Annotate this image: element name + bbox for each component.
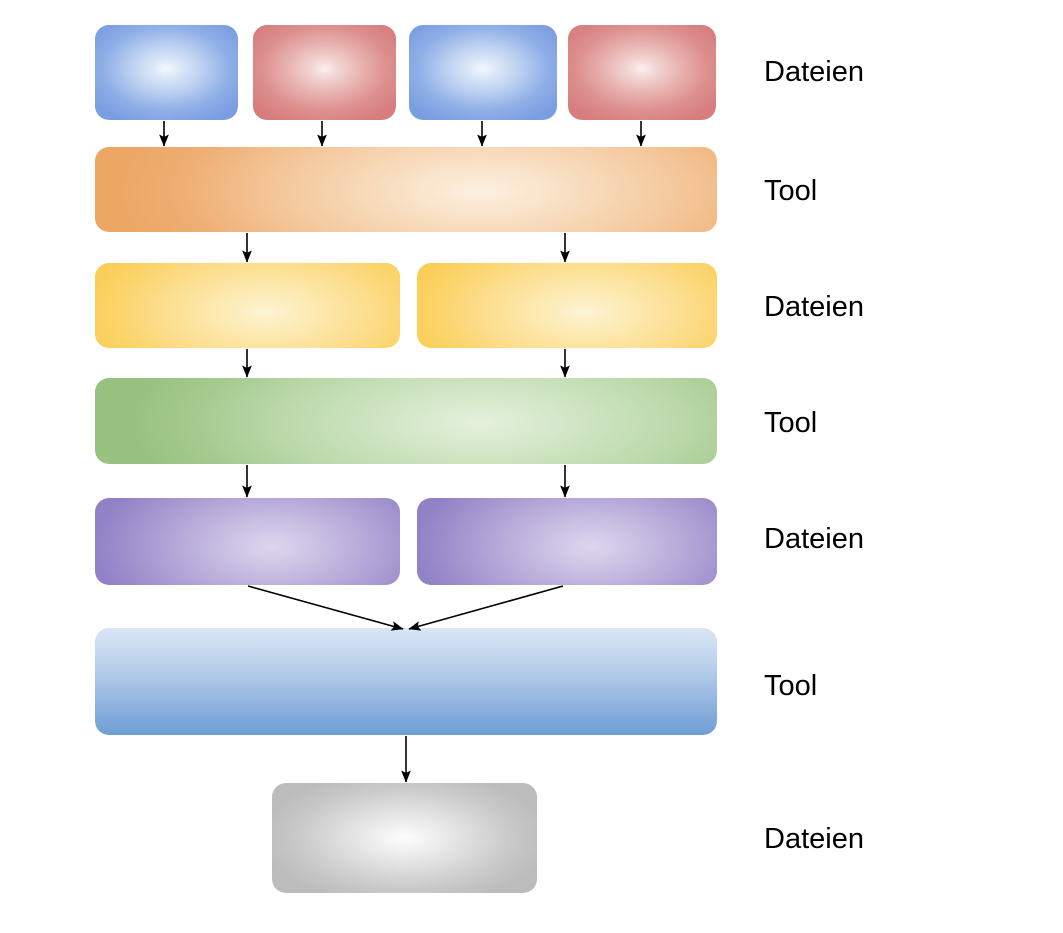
row-label-dateien-1: Dateien [764,58,864,87]
row-label-dateien-4: Dateien [764,825,864,854]
tool-node-6a[interactable] [95,628,717,735]
arrow-file5b-tool6 [409,586,563,629]
row-label-dateien-3: Dateien [764,525,864,554]
arrow-file5a-tool6 [248,586,403,629]
tool-node-2a[interactable] [95,147,717,232]
file-node-7a[interactable] [272,783,537,893]
file-node-1a[interactable] [95,25,238,120]
row-label-tool-1: Tool [764,177,817,206]
file-node-5b[interactable] [417,498,717,585]
file-node-3a[interactable] [95,263,400,348]
row-label-tool-3: Tool [764,672,817,701]
tool-node-4a[interactable] [95,378,717,464]
row-label-tool-2: Tool [764,409,817,438]
diagram-canvas: Dateien Tool Dateien Tool Dateien Tool D… [0,0,1063,933]
file-node-1d[interactable] [568,25,716,120]
file-node-3b[interactable] [417,263,717,348]
file-node-5a[interactable] [95,498,400,585]
file-node-1c[interactable] [409,25,557,120]
file-node-1b[interactable] [253,25,396,120]
row-label-dateien-2: Dateien [764,293,864,322]
